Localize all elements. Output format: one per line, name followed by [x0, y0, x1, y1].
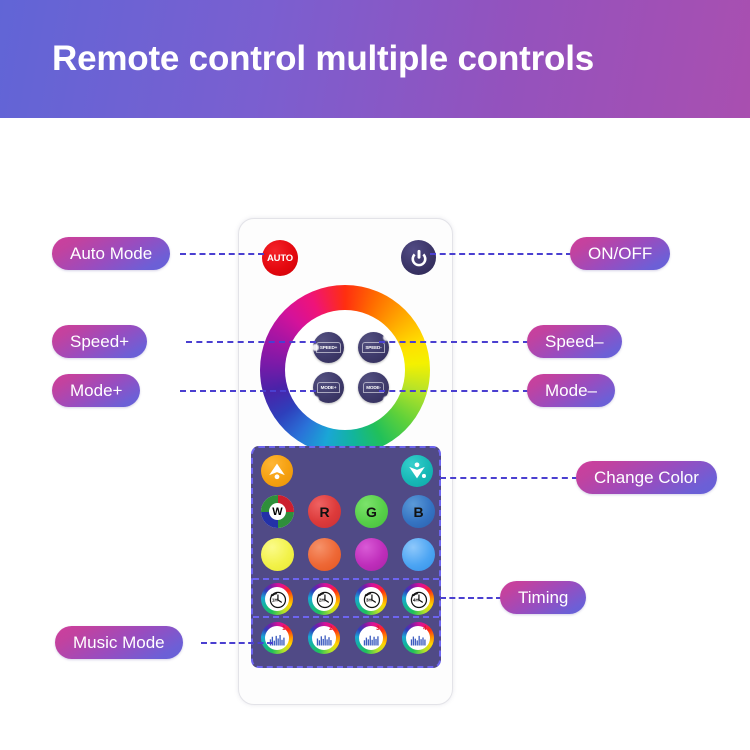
- connector-mode-minus: [379, 390, 529, 392]
- color-button-light-blue[interactable]: [402, 538, 435, 571]
- color-button-blue-label: B: [413, 504, 423, 520]
- page-title: Remote control multiple controls: [0, 39, 594, 79]
- auto-mode-button[interactable]: AUTO: [262, 240, 298, 276]
- brightness-down-button[interactable]: [401, 455, 433, 487]
- auto-button-label: AUTO: [267, 253, 293, 264]
- clock-4h-icon: 4H: [408, 589, 429, 610]
- timer-2h-button[interactable]: 2H: [308, 583, 340, 615]
- music-mode-1-button[interactable]: 1: [261, 622, 293, 654]
- mode-plus-button[interactable]: MODE+: [313, 372, 344, 403]
- timer-4h-face: 4H: [406, 587, 430, 611]
- mode-minus-button[interactable]: MODE-: [358, 372, 389, 403]
- connector-timing: [440, 597, 502, 599]
- power-on-off-button[interactable]: [401, 240, 436, 275]
- music-mode-4-face: 4: [406, 626, 430, 650]
- music-mode-4-number: 4: [423, 626, 426, 632]
- brightness-up-button[interactable]: [261, 455, 293, 487]
- clock-1h-icon: 1H: [267, 589, 288, 610]
- timer-3h-button[interactable]: 3H: [355, 583, 387, 615]
- label-speed-plus[interactable]: Speed+: [52, 325, 147, 358]
- color-button-white[interactable]: W: [261, 495, 294, 528]
- timer-2h-face: 2H: [312, 587, 336, 611]
- label-change-color[interactable]: Change Color: [576, 461, 717, 494]
- music-mode-2-face: 2: [312, 626, 336, 650]
- color-wheel-center: [285, 310, 405, 430]
- connector-speed-plus: [186, 341, 316, 343]
- clock-3h-icon: 3H: [361, 589, 382, 610]
- timer-3h-face: 3H: [359, 587, 383, 611]
- label-timing[interactable]: Timing: [500, 581, 586, 614]
- timer-1h-face: 1H: [265, 587, 289, 611]
- connector-mode-plus: [180, 390, 316, 392]
- color-button-yellow[interactable]: [261, 538, 294, 571]
- brightness-up-arrow-icon: [266, 460, 288, 482]
- music-mode-4-button[interactable]: 4: [402, 622, 434, 654]
- speed-minus-label: SPEED-: [362, 342, 385, 354]
- color-button-green[interactable]: G: [355, 495, 388, 528]
- color-button-green-label: G: [366, 504, 377, 520]
- timer-4h-button[interactable]: 4H: [402, 583, 434, 615]
- panel-divider-timing-music: [253, 616, 439, 618]
- music-mode-3-face: 3: [359, 626, 383, 650]
- svg-text:2H: 2H: [318, 597, 324, 602]
- power-icon: [408, 247, 430, 269]
- connector-music-mode: [201, 642, 273, 644]
- label-auto-mode[interactable]: Auto Mode: [52, 237, 170, 270]
- color-button-magenta[interactable]: [355, 538, 388, 571]
- label-mode-minus[interactable]: Mode–: [527, 374, 615, 407]
- svg-text:4H: 4H: [412, 597, 418, 602]
- label-speed-minus[interactable]: Speed–: [527, 325, 622, 358]
- brightness-down-arrow-icon: [406, 460, 428, 482]
- speed-plus-button[interactable]: SPEED+: [313, 332, 344, 363]
- music-mode-1-face: 1: [265, 626, 289, 650]
- mode-plus-label: MODE+: [317, 382, 340, 394]
- color-button-white-label: W: [269, 503, 286, 520]
- panel-divider-colors-timing: [253, 578, 439, 580]
- clock-2h-icon: 2H: [314, 589, 335, 610]
- label-mode-plus[interactable]: Mode+: [52, 374, 140, 407]
- label-on-off[interactable]: ON/OFF: [570, 237, 670, 270]
- speed-minus-button[interactable]: SPEED-: [358, 332, 389, 363]
- music-mode-3-number: 3: [376, 626, 379, 632]
- music-mode-3-button[interactable]: 3: [355, 622, 387, 654]
- music-mode-2-number: 2: [329, 626, 332, 632]
- header-banner: Remote control multiple controls: [0, 0, 750, 118]
- color-button-red[interactable]: R: [308, 495, 341, 528]
- connector-change-color: [440, 477, 578, 479]
- connector-auto-mode: [180, 253, 264, 255]
- label-music-mode[interactable]: Music Mode: [55, 626, 183, 659]
- svg-text:1H: 1H: [271, 597, 277, 602]
- music-mode-2-button[interactable]: 2: [308, 622, 340, 654]
- color-button-red-label: R: [319, 504, 329, 520]
- speed-plus-label: SPEED+: [316, 342, 340, 354]
- connector-speed-minus: [379, 341, 529, 343]
- color-button-orange[interactable]: [308, 538, 341, 571]
- svg-text:3H: 3H: [365, 597, 371, 602]
- color-button-blue[interactable]: B: [402, 495, 435, 528]
- music-mode-1-number: 1: [282, 626, 285, 632]
- timer-1h-button[interactable]: 1H: [261, 583, 293, 615]
- connector-on-off: [430, 253, 572, 255]
